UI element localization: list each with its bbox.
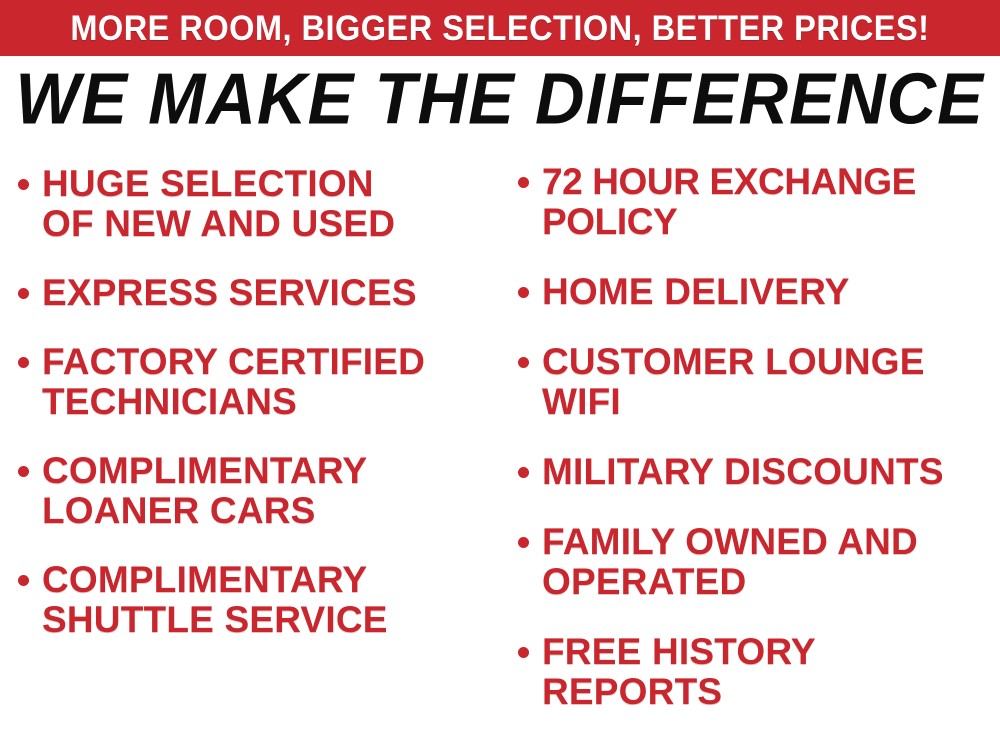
list-item-label: FREE HISTORY REPORTS: [542, 632, 816, 712]
list-item: MILITARY DISCOUNTS: [518, 452, 1000, 492]
list-item: HOME DELIVERY: [518, 272, 1000, 312]
bullet-dot-icon: [18, 179, 29, 190]
list-item-label: FAMILY OWNED AND OPERATED: [542, 522, 918, 602]
list-item-label: HUGE SELECTION OF NEW AND USED: [42, 164, 395, 244]
list-item: CUSTOMER LOUNGE WIFI: [518, 342, 1000, 422]
bullet-dot-icon: [518, 537, 529, 548]
list-item-label: COMPLIMENTARY LOANER CARS: [42, 451, 367, 531]
headline-container: WE MAKE THE DIFFERENCE: [0, 62, 1000, 134]
list-item: 72 HOUR EXCHANGE POLICY: [518, 162, 1000, 242]
list-item-label: HOME DELIVERY: [542, 272, 850, 312]
list-item-label: EXPRESS SERVICES: [42, 273, 417, 313]
bullet-dot-icon: [18, 357, 29, 368]
bullet-dot-icon: [518, 287, 529, 298]
promo-banner: MORE ROOM, BIGGER SELECTION, BETTER PRIC…: [0, 0, 1000, 56]
list-item: FAMILY OWNED AND OPERATED: [518, 522, 1000, 602]
bullet-dot-icon: [518, 177, 529, 188]
list-item: FREE HISTORY REPORTS: [518, 632, 1000, 712]
bullet-dot-icon: [518, 647, 529, 658]
list-item-label: CUSTOMER LOUNGE WIFI: [542, 342, 925, 422]
list-item: COMPLIMENTARY LOANER CARS: [18, 451, 500, 531]
list-item-label: 72 HOUR EXCHANGE POLICY: [542, 162, 916, 242]
bullet-dot-icon: [18, 466, 29, 477]
benefits-column-right: 72 HOUR EXCHANGE POLICY HOME DELIVERY CU…: [500, 150, 1000, 742]
page-title: WE MAKE THE DIFFERENCE: [16, 62, 985, 135]
list-item: HUGE SELECTION OF NEW AND USED: [18, 164, 500, 244]
list-item: EXPRESS SERVICES: [18, 273, 500, 313]
promo-banner-text: MORE ROOM, BIGGER SELECTION, BETTER PRIC…: [70, 11, 929, 46]
benefits-column-left: HUGE SELECTION OF NEW AND USED EXPRESS S…: [0, 150, 500, 669]
bullet-dot-icon: [518, 357, 529, 368]
list-item: COMPLIMENTARY SHUTTLE SERVICE: [18, 560, 500, 640]
list-item-label: FACTORY CERTIFIED TECHNICIANS: [42, 342, 425, 422]
list-item-label: COMPLIMENTARY SHUTTLE SERVICE: [42, 560, 388, 640]
list-item-label: MILITARY DISCOUNTS: [542, 452, 944, 492]
bullet-dot-icon: [18, 288, 29, 299]
benefits-columns: HUGE SELECTION OF NEW AND USED EXPRESS S…: [0, 150, 1000, 694]
bullet-dot-icon: [518, 467, 529, 478]
bullet-dot-icon: [18, 575, 29, 586]
list-item: FACTORY CERTIFIED TECHNICIANS: [18, 342, 500, 422]
